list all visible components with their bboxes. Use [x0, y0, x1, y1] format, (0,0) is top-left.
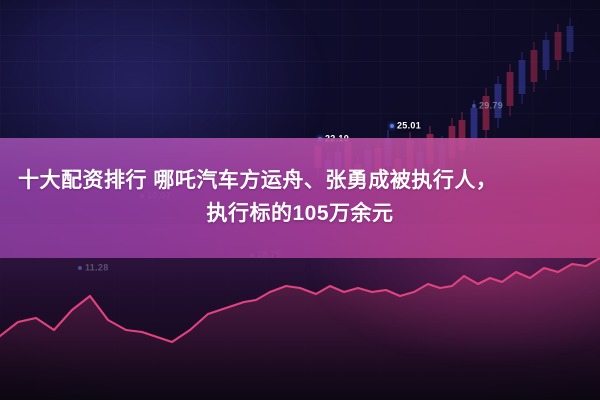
chart-value-label: 11.28 [78, 262, 109, 273]
chart-value-text: 29.79 [479, 101, 503, 111]
chart-value-text: 25.01 [397, 121, 421, 131]
headline-block: 十大配资排行 哪吒汽车方运舟、张勇成被执行人， 执行标的105万余元 [0, 138, 600, 258]
chart-value-label: 29.79 [472, 100, 503, 111]
data-point-dot-icon [78, 266, 82, 270]
chart-value-text: 11.28 [85, 263, 109, 273]
banner-image: 22.1025.0129.7910.0718.7511.28 十大配资排行 哪吒… [0, 0, 600, 400]
data-point-dot-icon [390, 124, 394, 128]
data-point-dot-icon [472, 104, 476, 108]
chart-value-label: 25.01 [390, 120, 421, 131]
headline-line-1: 十大配资排行 哪吒汽车方运舟、张勇成被执行人， [8, 167, 592, 196]
headline-line-2: 执行标的105万余元 [8, 200, 592, 229]
